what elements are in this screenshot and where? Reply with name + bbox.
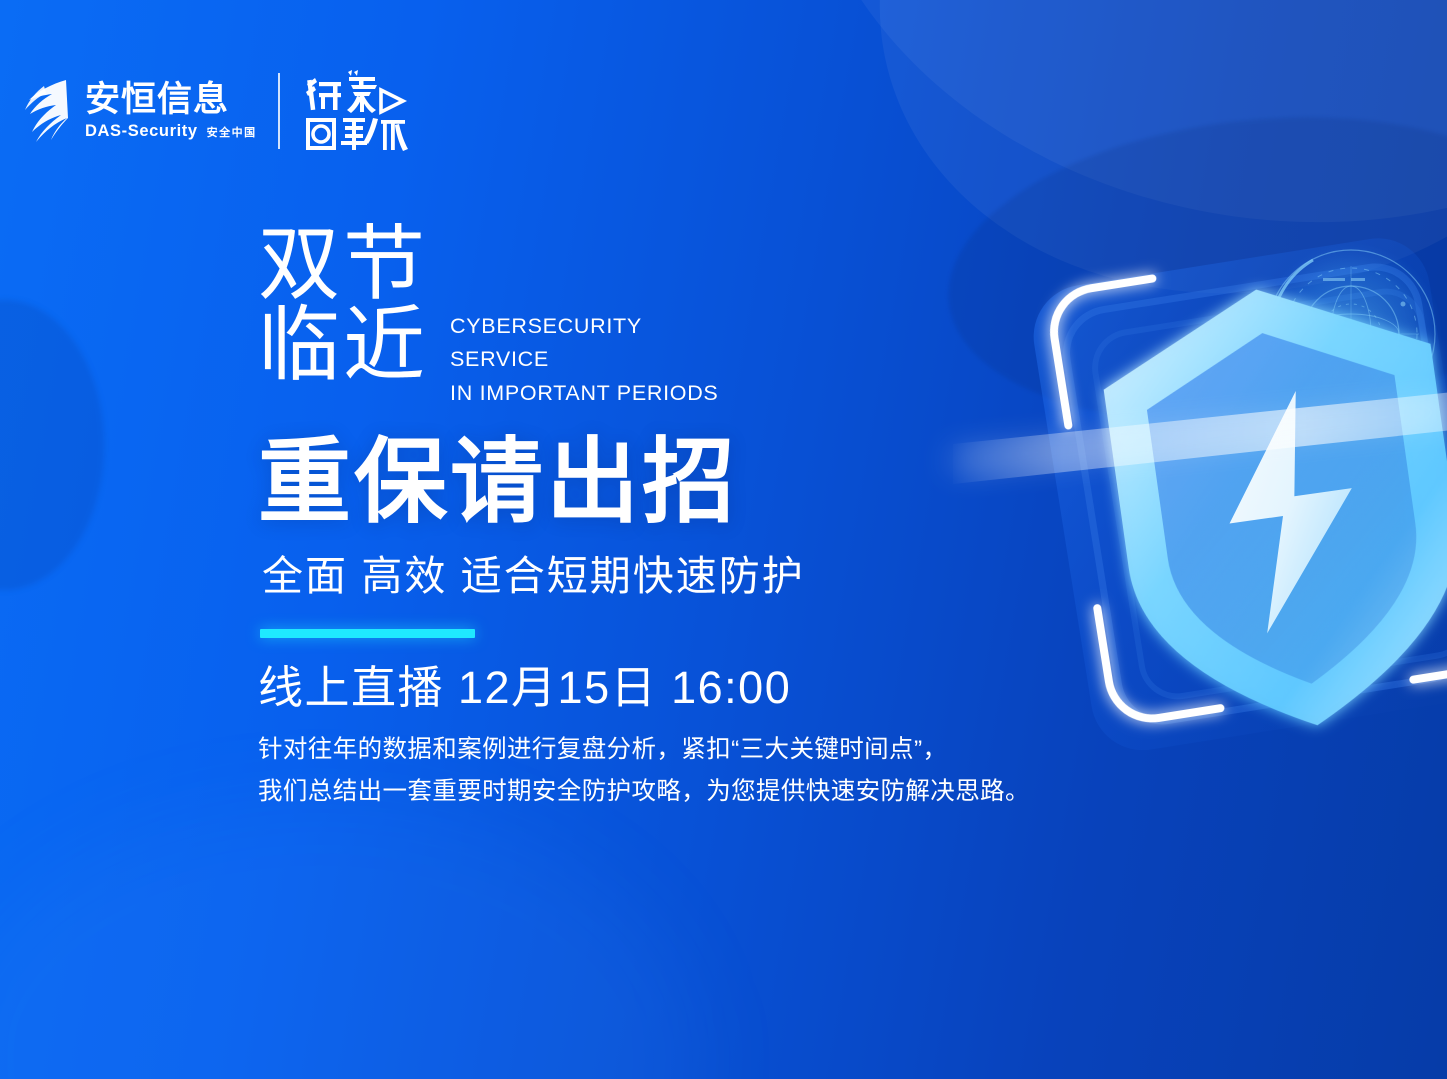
company-name-en: DAS-Security [85, 122, 198, 141]
brand-words: 安恒信息 DAS-Security 安全中国 [85, 81, 257, 141]
kicker-chinese: 双节 临近 [258, 224, 428, 386]
das-security-swoosh-icon [22, 78, 68, 144]
left-orb-shape [0, 300, 104, 590]
company-name-en-row: DAS-Security 安全中国 [85, 122, 257, 141]
shield-artwork [983, 216, 1447, 786]
bottom-glow-shape [0, 799, 700, 1079]
live-schedule-line: 线上直播 12月15日 16:00 [258, 660, 791, 716]
promo-poster: 安恒信息 DAS-Security 安全中国 [0, 0, 1447, 1079]
accent-bar [260, 629, 475, 638]
company-name-cn: 安恒信息 [85, 81, 257, 119]
headline-kicker: 双节 临近 CYBERSECURITY SERVICE IN IMPORTANT… [258, 224, 718, 410]
main-title: 重保请出招 [258, 436, 738, 529]
brand-bar: 安恒信息 DAS-Security 安全中国 [22, 63, 409, 159]
hangjia-roundtable-logo-icon [301, 68, 409, 154]
brand-divider [278, 73, 280, 149]
kicker-english: CYBERSECURITY SERVICE IN IMPORTANT PERIO… [450, 224, 718, 410]
company-tagline: 安全中国 [207, 124, 257, 140]
event-description: 针对往年的数据和案例进行复盘分析，紧扣“三大关键时间点”， 我们总结出一套重要时… [258, 729, 1030, 813]
sub-title: 全面 高效 适合短期快速防护 [262, 552, 805, 601]
